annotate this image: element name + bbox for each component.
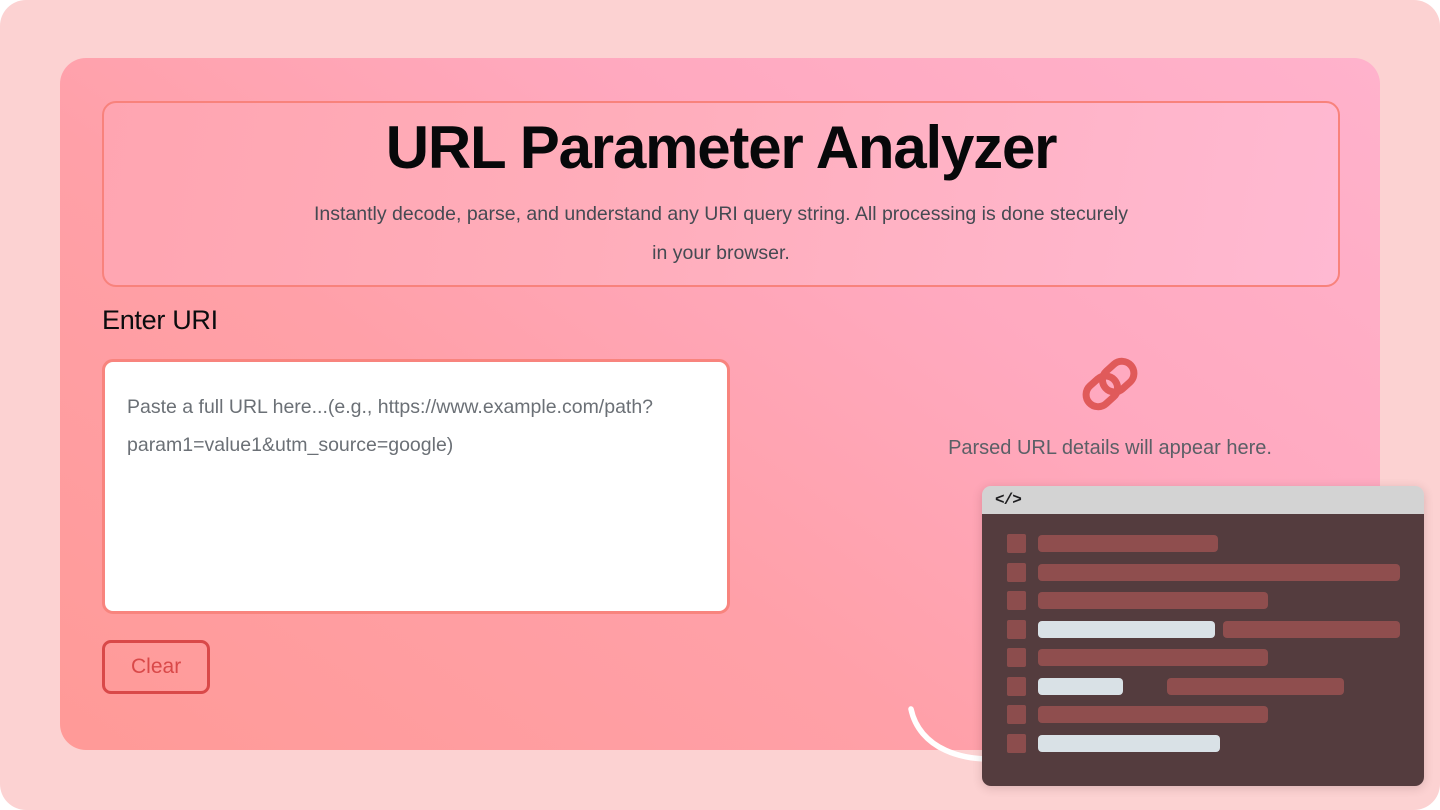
code-row [1007,705,1402,724]
code-row [1007,620,1402,639]
code-row [1007,734,1402,753]
code-tag-icon: </> [995,491,1021,509]
code-row-bullet [1007,677,1026,696]
code-row [1007,591,1402,610]
code-bar-light [1038,621,1215,638]
code-bar-red [1167,678,1344,695]
code-bar-light [1038,735,1220,752]
input-label: Enter URI [102,305,736,336]
page-root: URL Parameter Analyzer Instantly decode,… [0,0,1440,810]
page-title: URL Parameter Analyzer [386,116,1057,179]
code-row-bullet [1007,591,1026,610]
code-row [1007,677,1402,696]
code-bar-red [1038,649,1268,666]
page-subtitle: Instantly decode, parse, and understand … [306,195,1136,271]
code-row [1007,534,1402,553]
code-window-body [982,514,1424,786]
result-empty-text: Parsed URL details will appear here. [948,437,1272,460]
code-bar-light [1038,678,1123,695]
code-bar-red [1038,564,1400,581]
code-bar-red [1038,592,1268,609]
code-row-bullet [1007,534,1026,553]
code-preview-window: </> [982,486,1424,786]
code-row [1007,648,1402,667]
input-column: Enter URI Clear [102,305,736,694]
code-row-bullet [1007,648,1026,667]
code-row [1007,563,1402,582]
code-row-bullet [1007,620,1026,639]
link-chain-icon [1078,353,1142,415]
url-input[interactable] [102,359,730,614]
code-bar-red [1223,621,1400,638]
result-placeholder: Parsed URL details will appear here. [850,353,1370,460]
code-row-bullet [1007,705,1026,724]
clear-button[interactable]: Clear [102,640,210,694]
code-window-titlebar: </> [982,486,1424,514]
code-bar-red [1038,706,1268,723]
header-panel: URL Parameter Analyzer Instantly decode,… [102,101,1340,287]
code-row-bullet [1007,734,1026,753]
code-bar-red [1038,535,1218,552]
code-row-bullet [1007,563,1026,582]
